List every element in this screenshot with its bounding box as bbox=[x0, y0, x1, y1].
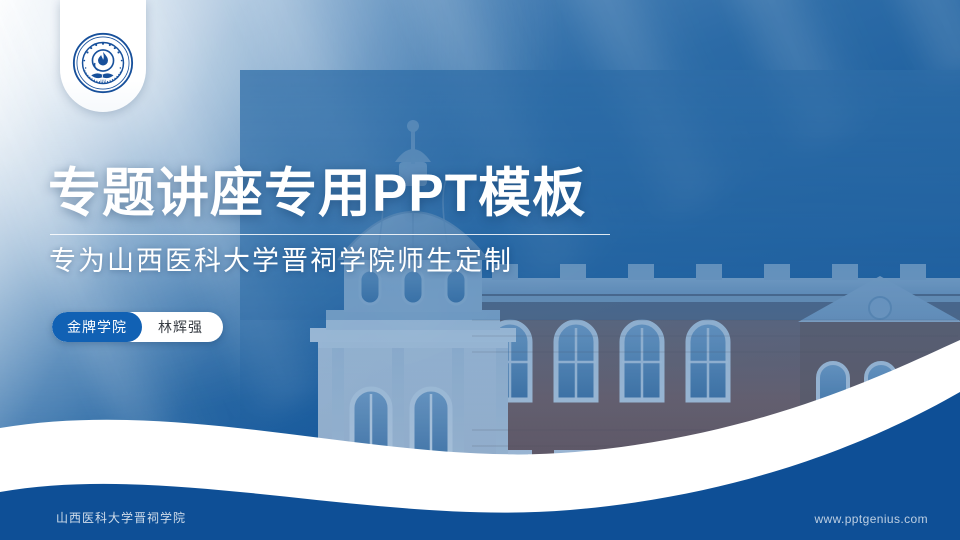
presentation-slide: 1919 专题讲座专用PPT模板 专为山西医科大学晋祠学院师生定制 金牌学院 林… bbox=[0, 0, 960, 540]
footer-website: www.pptgenius.com bbox=[814, 512, 928, 526]
university-logo-banner: 1919 bbox=[60, 0, 146, 112]
presenter-badge: 金牌学院 林辉强 bbox=[52, 312, 223, 342]
university-seal-icon: 1919 bbox=[72, 32, 134, 94]
presenter-name-label: 林辉强 bbox=[142, 312, 223, 342]
svg-text:1919: 1919 bbox=[100, 79, 107, 83]
badge-tag-label: 金牌学院 bbox=[52, 312, 142, 342]
title-divider bbox=[50, 234, 610, 235]
page-title: 专题讲座专用PPT模板 bbox=[48, 166, 586, 222]
page-subtitle: 专为山西医科大学晋祠学院师生定制 bbox=[49, 245, 513, 279]
footer-institution: 山西医科大学晋祠学院 bbox=[56, 509, 186, 526]
